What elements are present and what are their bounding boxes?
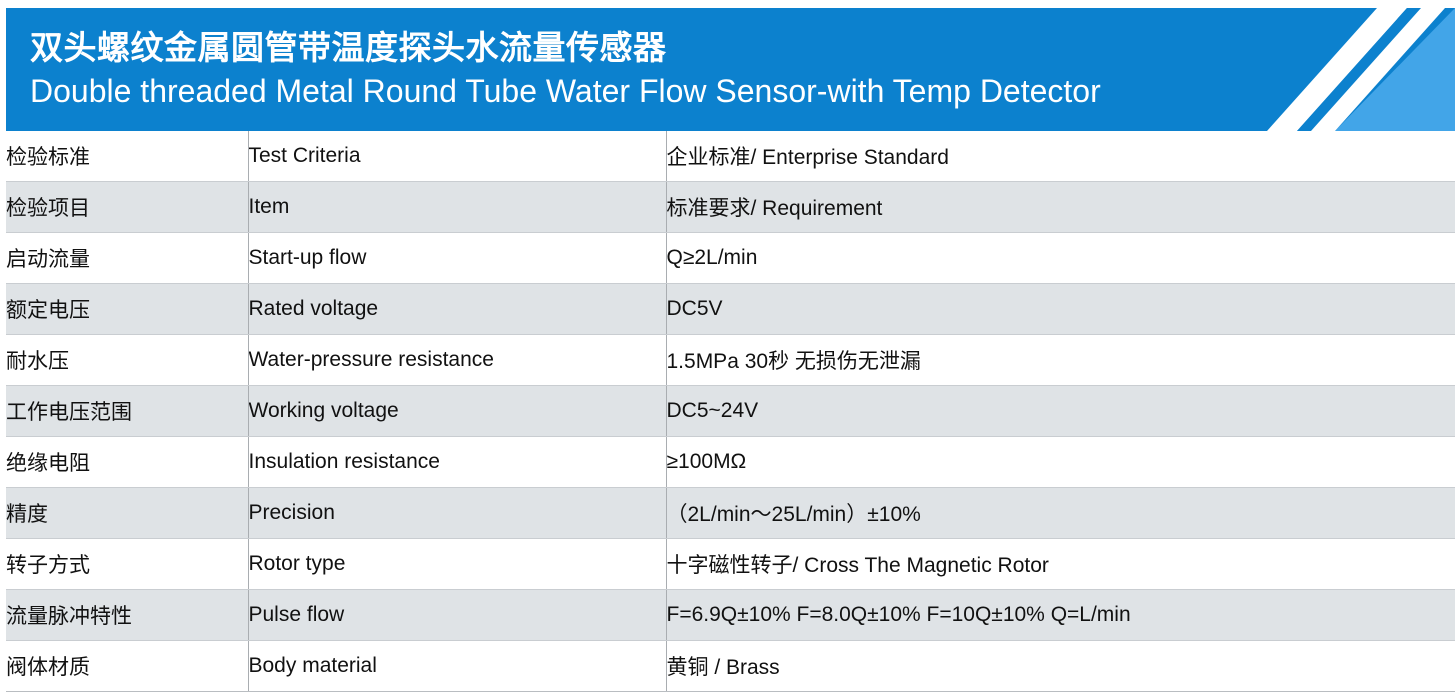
row-label-cn: 精度 [6, 488, 248, 539]
table-row: 工作电压范围 Working voltage DC5~24V [6, 386, 1455, 437]
row-value: DC5~24V [666, 386, 1455, 437]
spec-sheet-page: 双头螺纹金属圆管带温度探头水流量传感器 Double threaded Meta… [0, 0, 1455, 691]
row-label-cn: 耐水压 [6, 335, 248, 386]
row-value: 十字磁性转子/ Cross The Magnetic Rotor [666, 539, 1455, 590]
row-value: 标准要求/ Requirement [666, 182, 1455, 233]
row-label-cn: 额定电压 [6, 284, 248, 335]
row-label-cn: 阀体材质 [6, 641, 248, 692]
row-label-cn: 绝缘电阻 [6, 437, 248, 488]
table-row: 检验项目 Item 标准要求/ Requirement [6, 182, 1455, 233]
table-row: 流量脉冲特性 Pulse flow F=6.9Q±10% F=8.0Q±10% … [6, 590, 1455, 641]
banner-text-block: 双头螺纹金属圆管带温度探头水流量传感器 Double threaded Meta… [30, 8, 1101, 131]
table-row: 阀体材质 Body material 黄铜 / Brass [6, 641, 1455, 692]
row-label-en: Rotor type [248, 539, 666, 590]
row-label-en: Test Criteria [248, 131, 666, 182]
row-label-cn: 检验标准 [6, 131, 248, 182]
row-value: DC5V [666, 284, 1455, 335]
row-label-en: Item [248, 182, 666, 233]
row-value: 企业标准/ Enterprise Standard [666, 131, 1455, 182]
row-label-en: Start-up flow [248, 233, 666, 284]
row-label-en: Pulse flow [248, 590, 666, 641]
row-label-cn: 工作电压范围 [6, 386, 248, 437]
diagonal-stripes-decoration [1225, 8, 1455, 131]
table-row: 检验标准 Test Criteria 企业标准/ Enterprise Stan… [6, 131, 1455, 182]
row-value: 黄铜 / Brass [666, 641, 1455, 692]
row-value: Q≥2L/min [666, 233, 1455, 284]
row-label-en: Insulation resistance [248, 437, 666, 488]
table-row: 耐水压 Water-pressure resistance 1.5MPa 30秒… [6, 335, 1455, 386]
row-label-cn: 转子方式 [6, 539, 248, 590]
row-label-en: Water-pressure resistance [248, 335, 666, 386]
header-banner: 双头螺纹金属圆管带温度探头水流量传感器 Double threaded Meta… [6, 8, 1455, 131]
row-label-cn: 检验项目 [6, 182, 248, 233]
row-label-en: Rated voltage [248, 284, 666, 335]
row-value: （2L/min〜25L/min）±10% [666, 488, 1455, 539]
row-label-en: Body material [248, 641, 666, 692]
row-label-cn: 启动流量 [6, 233, 248, 284]
table-row: 启动流量 Start-up flow Q≥2L/min [6, 233, 1455, 284]
page-title-chinese: 双头螺纹金属圆管带温度探头水流量传感器 [30, 28, 1101, 68]
table-row: 额定电压 Rated voltage DC5V [6, 284, 1455, 335]
row-value: F=6.9Q±10% F=8.0Q±10% F=10Q±10% Q=L/min [666, 590, 1455, 641]
specification-table: 检验标准 Test Criteria 企业标准/ Enterprise Stan… [6, 131, 1455, 692]
row-value: 1.5MPa 30秒 无损伤无泄漏 [666, 335, 1455, 386]
page-title-english: Double threaded Metal Round Tube Water F… [30, 72, 1101, 110]
row-value: ≥100MΩ [666, 437, 1455, 488]
table-row: 转子方式 Rotor type 十字磁性转子/ Cross The Magnet… [6, 539, 1455, 590]
spec-table-body: 检验标准 Test Criteria 企业标准/ Enterprise Stan… [6, 131, 1455, 692]
row-label-en: Precision [248, 488, 666, 539]
row-label-cn: 流量脉冲特性 [6, 590, 248, 641]
table-row: 精度 Precision （2L/min〜25L/min）±10% [6, 488, 1455, 539]
table-row: 绝缘电阻 Insulation resistance ≥100MΩ [6, 437, 1455, 488]
row-label-en: Working voltage [248, 386, 666, 437]
